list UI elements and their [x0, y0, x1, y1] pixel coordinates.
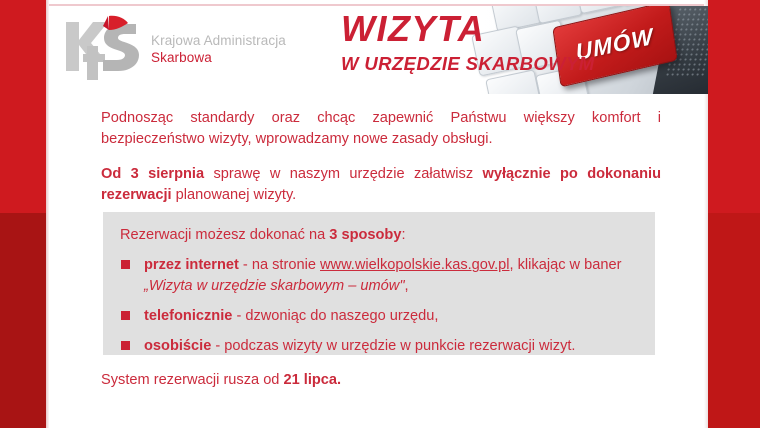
panel-lead-bold: 3 sposoby — [329, 227, 401, 243]
list-item: telefonicznie - dzwoniąc do naszego urzę… — [120, 306, 639, 327]
square-bullet-icon — [121, 260, 130, 269]
list-item: przez internet - na stronie www.wielkopo… — [120, 255, 639, 296]
paragraph2-bold-date: Od 3 sierpnia — [101, 166, 204, 182]
method-1-tail: , — [405, 278, 409, 294]
intro-text-block: Podnosząc standardy oraz chcąc zapewnić … — [101, 108, 661, 206]
intro-paragraph-2: Od 3 sierpnia sprawę w naszym urzędzie z… — [101, 164, 661, 207]
panel-lead-prefix: Rezerwacji możesz dokonać na — [120, 227, 329, 243]
left-red-bar — [0, 0, 46, 428]
kas-logo-block: Krajowa Administracja Skarbowa — [60, 10, 320, 84]
right-red-bar — [708, 0, 760, 428]
intro-paragraph-1: Podnosząc standardy oraz chcąc zapewnić … — [101, 108, 661, 151]
kas-logo-text: Krajowa Administracja Skarbowa — [151, 32, 286, 66]
left-red-bar-bottom — [0, 213, 46, 428]
banner-title-sub: W URZĘDZIE SKARBOWYM — [341, 53, 601, 75]
kas-website-link[interactable]: www.wielkopolskie.kas.gov.pl — [320, 257, 510, 273]
poster-screen: Krajowa Administracja Skarbowa UMÓW WIZY… — [0, 0, 760, 428]
org-name-line1: Krajowa Administracja — [151, 32, 286, 49]
poster-header: Krajowa Administracja Skarbowa UMÓW WIZY… — [49, 6, 708, 94]
footer-prefix: System rezerwacji rusza od — [101, 372, 283, 388]
method-1-banner-quote: „Wizyta w urzędzie skarbowym – umów" — [144, 278, 405, 294]
panel-lead-text: Rezerwacji możesz dokonać na 3 sposoby: — [120, 225, 639, 245]
method-3-bold: osobiście — [144, 338, 211, 354]
method-1-bold: przez internet — [144, 257, 239, 273]
banner-title-block: WIZYTA W URZĘDZIE SKARBOWYM — [341, 11, 601, 75]
paragraph2-end: planowanej wizyty. — [172, 187, 297, 203]
reservation-methods-list: przez internet - na stronie www.wielkopo… — [120, 255, 639, 356]
paragraph2-middle: sprawę w naszym urzędzie załatwisz — [204, 166, 482, 182]
square-bullet-icon — [121, 311, 130, 320]
kas-logo-icon — [60, 10, 146, 82]
panel-lead-suffix: : — [401, 227, 405, 243]
square-bullet-icon — [121, 341, 130, 350]
method-2-bold: telefonicznie — [144, 308, 232, 324]
reservation-methods-panel: Rezerwacji możesz dokonać na 3 sposoby: … — [103, 212, 655, 355]
method-1-text-after-link: , klikając w baner — [510, 257, 622, 273]
method-1-text-before-link: - na stronie — [239, 257, 320, 273]
right-red-bar-bottom — [708, 213, 760, 428]
method-2-text: - dzwoniąc do naszego urzędu, — [232, 308, 438, 324]
left-red-bar-top — [0, 0, 46, 213]
banner-title-main: WIZYTA — [341, 11, 601, 47]
footer-date: 21 lipca. — [283, 372, 341, 388]
right-red-bar-top — [708, 0, 760, 213]
system-start-line: System rezerwacji rusza od 21 lipca. — [101, 370, 341, 390]
method-3-text: - podczas wizyty w urzędzie w punkcie re… — [211, 338, 575, 354]
list-item: osobiście - podczas wizyty w urzędzie w … — [120, 336, 639, 357]
org-name-line2: Skarbowa — [151, 49, 286, 66]
